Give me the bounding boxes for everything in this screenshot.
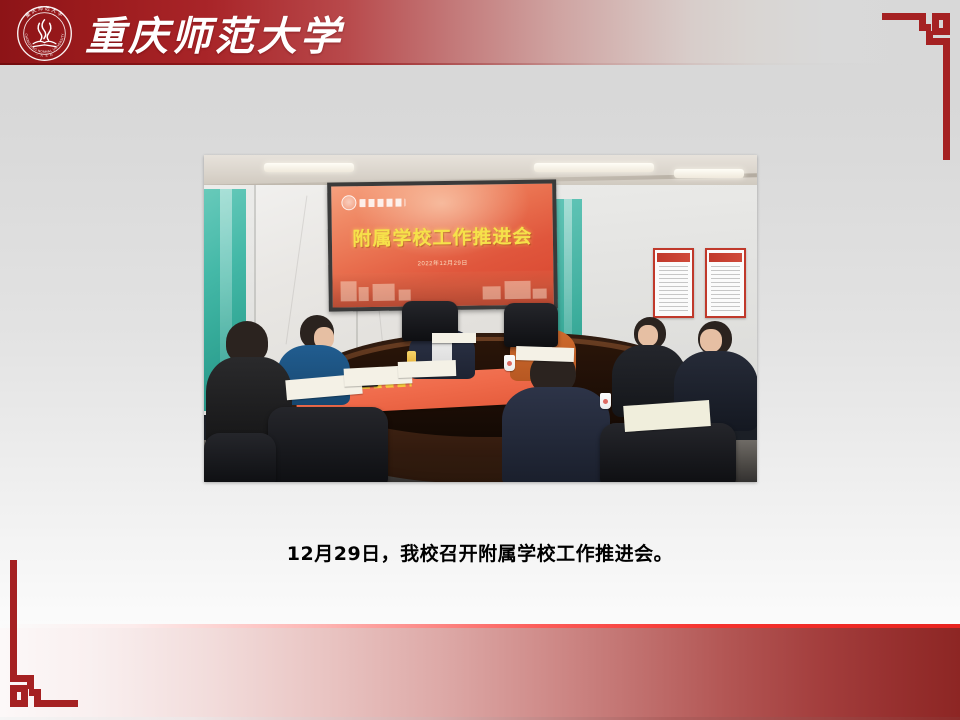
paper-cup bbox=[504, 355, 515, 371]
document-papers bbox=[398, 360, 457, 378]
photo-ceiling-light bbox=[674, 169, 744, 178]
photo-ceiling-light bbox=[264, 163, 354, 172]
screen-subtitle: 2022年12月29日 bbox=[332, 256, 553, 268]
corner-ornament-top-right-icon bbox=[882, 8, 952, 163]
office-chair bbox=[204, 433, 276, 482]
paper-cup bbox=[600, 393, 611, 409]
meeting-photo: 附属学校工作推进会 2022年12月29日 bbox=[204, 155, 757, 482]
footer-banner bbox=[0, 628, 960, 720]
screen-university-logo-icon bbox=[341, 195, 405, 211]
document-papers bbox=[432, 333, 476, 343]
document-papers bbox=[516, 346, 574, 362]
slide-caption: 12月29日，我校召开附属学校工作推进会。 bbox=[0, 539, 960, 566]
office-chair bbox=[504, 303, 558, 347]
projection-screen: 附属学校工作推进会 2022年12月29日 bbox=[327, 179, 558, 311]
university-name-wordmark: 重庆师范大学 bbox=[85, 4, 343, 62]
presentation-slide: 重庆师范大学 CHONGQING NORMAL UNIVERSITY 一 九 五… bbox=[0, 0, 960, 720]
wall-poster bbox=[705, 248, 746, 318]
photo-ceiling-light bbox=[534, 163, 654, 172]
office-chair bbox=[268, 407, 388, 482]
corner-ornament-bottom-left-icon bbox=[8, 557, 78, 712]
office-chair bbox=[600, 423, 736, 482]
wall-poster bbox=[653, 248, 694, 318]
university-seal-icon: 重庆师范大学 CHONGQING NORMAL UNIVERSITY 一 九 五… bbox=[16, 5, 73, 62]
screen-title: 附属学校工作推进会 bbox=[332, 221, 553, 251]
